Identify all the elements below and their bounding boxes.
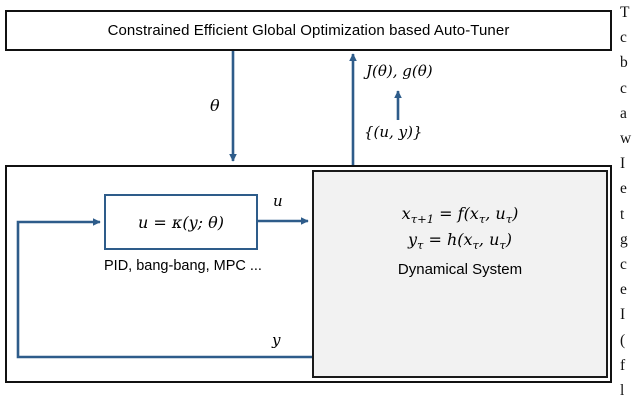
dynamical-system-caption: Dynamical System	[398, 261, 522, 278]
controller-caption: PID, bang-bang, MPC ...	[104, 258, 258, 274]
margin-text-line: l	[620, 378, 640, 403]
dynamical-system-state-equation: xτ+1 = f(xτ, uτ)	[402, 202, 519, 228]
signal-label-theta: θ	[210, 96, 220, 115]
signal-label-measured-output: y	[272, 331, 280, 349]
margin-text-line: g	[620, 227, 640, 252]
margin-text-line: (	[620, 328, 640, 353]
margin-text-line: e	[620, 277, 640, 302]
margin-text-line: e	[620, 176, 640, 201]
signal-label-data-set: {(u, y)}	[364, 123, 422, 141]
auto-tuner-box: Constrained Efficient Global Optimizatio…	[5, 10, 612, 51]
dynamical-system-box: xτ+1 = f(xτ, uτ) yτ = h(xτ, uτ) Dynamica…	[312, 170, 608, 378]
margin-text-line: c	[620, 25, 640, 50]
auto-tuner-label: Constrained Efficient Global Optimizatio…	[108, 22, 510, 39]
margin-text-line: T	[620, 0, 640, 25]
margin-text-line: t	[620, 202, 640, 227]
margin-text-line: I	[620, 302, 640, 327]
margin-text-line: c	[620, 76, 640, 101]
margin-text-line: w	[620, 126, 640, 151]
signal-label-objective-constraint: J(θ), g(θ)	[366, 62, 433, 80]
signal-label-control-input: u	[273, 192, 283, 210]
margin-text-line: I	[620, 151, 640, 176]
margin-text-line: b	[620, 50, 640, 75]
controller-equation: u = κ(y; θ)	[138, 213, 224, 232]
dynamical-system-output-equation: yτ = h(xτ, uτ)	[408, 228, 512, 254]
margin-text-line: f	[620, 353, 640, 378]
margin-body-text: TcbcawIetgceI(fl	[620, 0, 640, 413]
controller-box: u = κ(y; θ)	[104, 194, 258, 250]
margin-text-line: c	[620, 252, 640, 277]
block-diagram-figure: Constrained Efficient Global Optimizatio…	[0, 0, 640, 413]
margin-text-line: a	[620, 101, 640, 126]
